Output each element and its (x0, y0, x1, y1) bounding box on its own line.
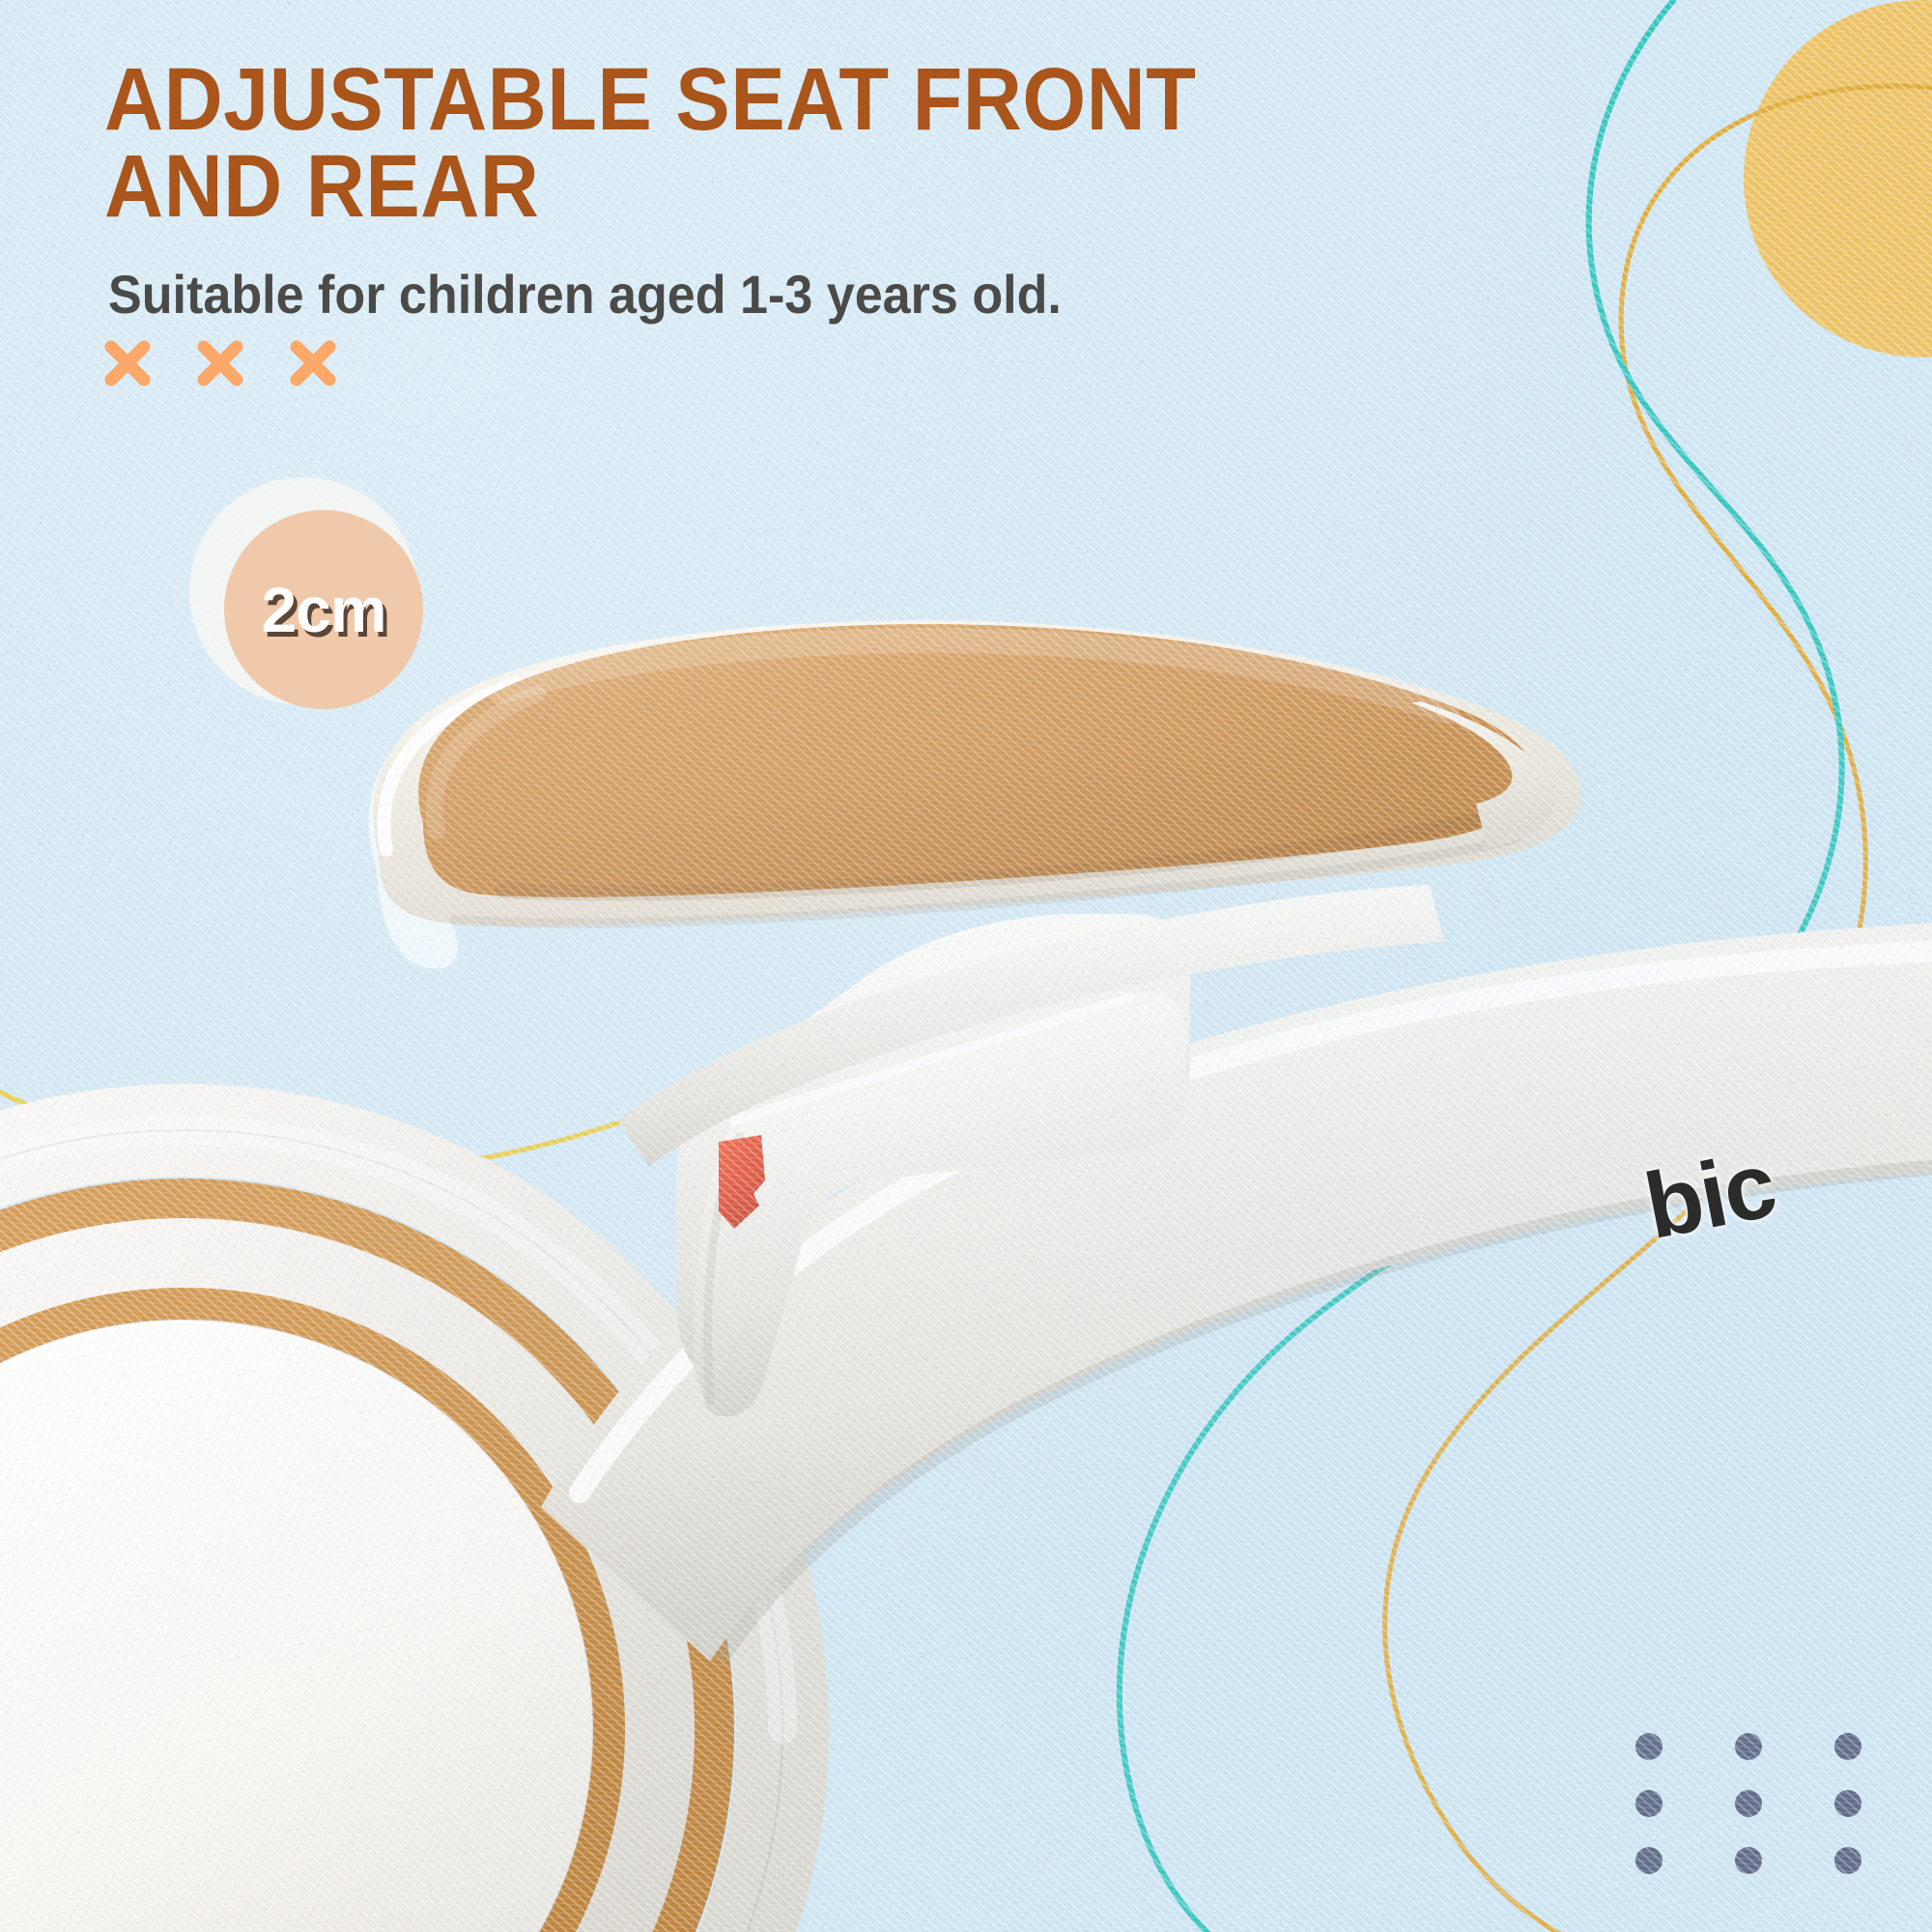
divider-x-marks (100, 336, 340, 390)
amber-circle-decor (1744, 0, 1932, 357)
page-subtitle: Suitable for children aged 1-3 years old… (108, 263, 1062, 326)
x-mark-icon (100, 336, 155, 390)
page-title: ADJUSTABLE SEAT FRONT AND REAR (104, 56, 1260, 230)
dot-grid-decor (1635, 1733, 1861, 1874)
x-mark-icon (286, 336, 340, 390)
measurement-badge-label: 2cm (224, 510, 423, 709)
product-banner: ADJUSTABLE SEAT FRONT AND REAR Suitable … (0, 0, 1932, 1932)
x-mark-icon (193, 336, 247, 390)
